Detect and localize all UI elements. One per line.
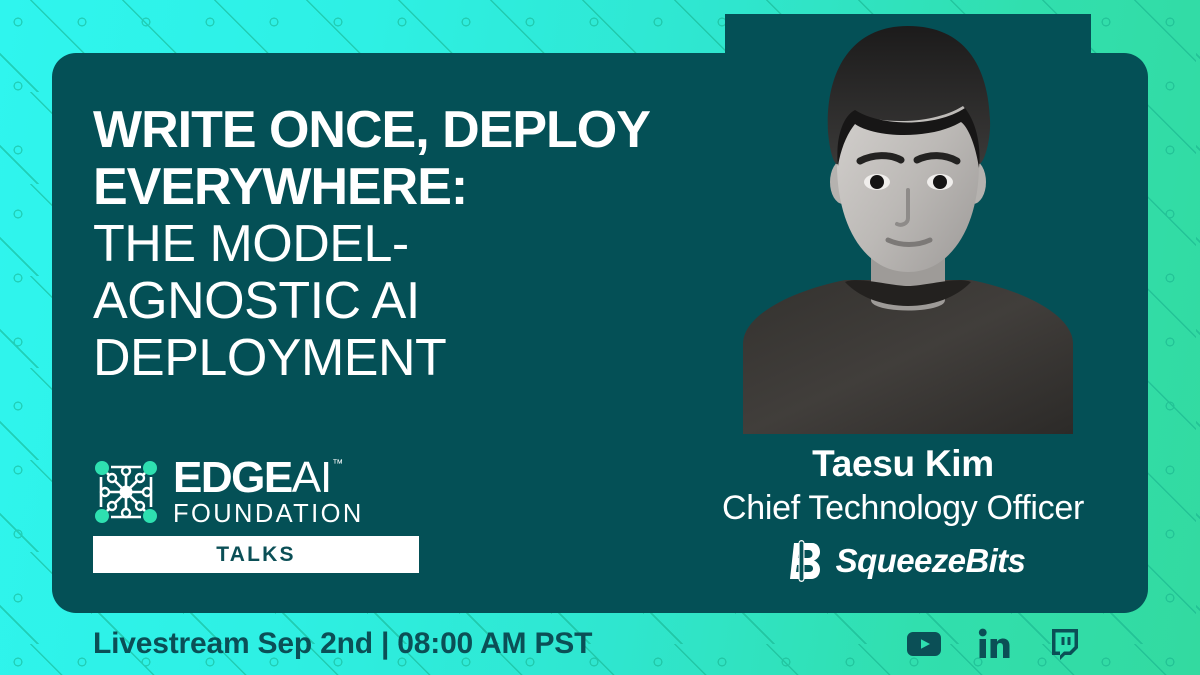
squeezebits-b-icon <box>781 540 823 582</box>
youtube-icon[interactable] <box>906 626 942 662</box>
brand-name-sub: FOUNDATION <box>173 500 364 529</box>
linkedin-icon[interactable] <box>976 626 1012 662</box>
footer-bar: Livestream Sep 2nd | 08:00 AM PST <box>0 613 1200 675</box>
speaker-info: Taesu Kim Chief Technology Officer <box>648 443 1158 528</box>
series-label-bar: TALKS <box>93 536 419 573</box>
speaker-company: SqueezeBits <box>648 540 1158 582</box>
title-line-1: WRITE ONCE, DEPLOY <box>93 102 733 159</box>
trademark-symbol: ™ <box>332 459 343 470</box>
twitch-icon[interactable] <box>1046 626 1082 662</box>
talk-title: WRITE ONCE, DEPLOY EVERYWHERE: THE MODEL… <box>93 102 733 387</box>
title-line-3: THE MODEL- <box>93 216 733 273</box>
edge-ai-foundation-wordmark: EDGE AI ™ FOUNDATION <box>173 455 364 529</box>
brand-name-primary: EDGE <box>173 457 292 499</box>
livestream-schedule: Livestream Sep 2nd | 08:00 AM PST <box>93 627 592 661</box>
network-nodes-icon <box>93 459 159 525</box>
title-line-5: DEPLOYMENT <box>93 330 733 387</box>
social-links <box>906 626 1082 662</box>
speaker-role: Chief Technology Officer <box>648 488 1158 529</box>
speaker-portrait <box>725 14 1091 434</box>
title-line-2: EVERYWHERE: <box>93 159 733 216</box>
series-label-text: TALKS <box>216 543 295 567</box>
brand-name-secondary: AI <box>292 457 332 499</box>
speaker-name: Taesu Kim <box>648 443 1158 486</box>
edge-ai-foundation-logo: EDGE AI ™ FOUNDATION <box>93 455 364 529</box>
company-name: SqueezeBits <box>836 542 1026 580</box>
title-line-4: AGNOSTIC AI <box>93 273 733 330</box>
